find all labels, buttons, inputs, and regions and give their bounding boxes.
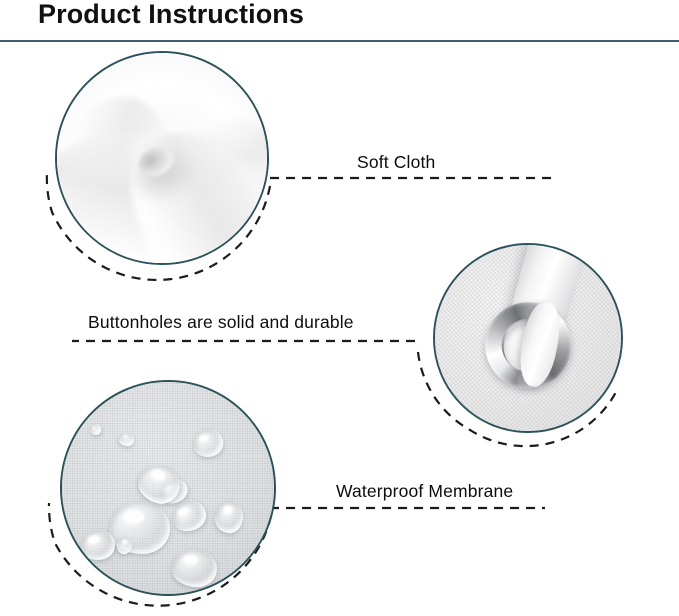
water-droplet: [171, 548, 217, 588]
water-droplets-group: [62, 382, 274, 594]
callout-label-waterproof: Waterproof Membrane: [336, 481, 513, 502]
water-droplet: [212, 498, 246, 535]
water-droplet: [190, 425, 226, 460]
product-instructions-infographic: Product Instructions S: [0, 0, 679, 616]
callout-label-soft-cloth: Soft Cloth: [357, 152, 435, 173]
callout-image-waterproof: [60, 380, 276, 596]
callout-image-soft-cloth: [55, 51, 269, 265]
water-droplet: [88, 423, 102, 437]
water-droplet: [119, 432, 135, 446]
callout-image-buttonholes: [433, 243, 623, 433]
callout-label-buttonholes: Buttonholes are solid and durable: [88, 312, 354, 333]
